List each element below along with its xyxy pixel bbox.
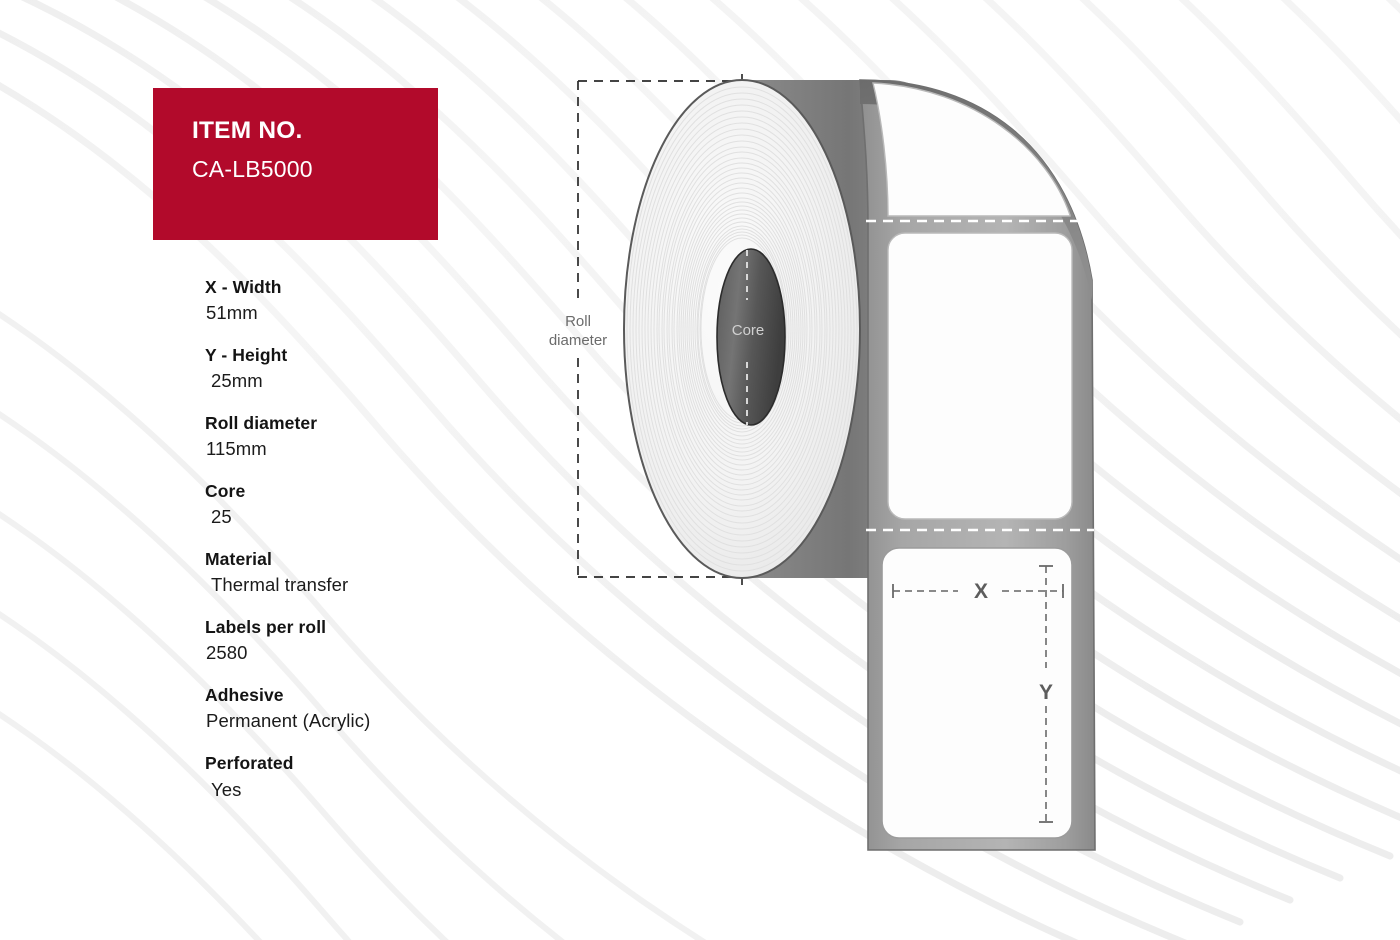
spec-value: 25 bbox=[205, 505, 505, 530]
spec-row-material: Material Thermal transfer bbox=[205, 548, 505, 598]
product-spec-sheet: ITEM NO. CA-LB5000 X - Width 51mm Y - He… bbox=[0, 0, 1400, 940]
spec-value: Yes bbox=[205, 778, 505, 803]
y-dimension-label: Y bbox=[1039, 681, 1053, 704]
item-number-value: CA-LB5000 bbox=[192, 156, 438, 183]
specification-list: X - Width 51mm Y - Height 25mm Roll diam… bbox=[205, 276, 505, 803]
x-dimension-label: X bbox=[974, 580, 988, 603]
spec-row-labels-per-roll: Labels per roll 2580 bbox=[205, 616, 505, 666]
spec-label: Perforated bbox=[205, 752, 505, 775]
roll-diameter-label-line1: Roll bbox=[565, 313, 591, 330]
spec-row-y-height: Y - Height 25mm bbox=[205, 344, 505, 394]
spec-label: Y - Height bbox=[205, 344, 505, 367]
spec-row-x-width: X - Width 51mm bbox=[205, 276, 505, 326]
core-label: Core bbox=[732, 322, 765, 339]
roll-diameter-label-line2: diameter bbox=[549, 332, 607, 349]
spec-label: Labels per roll bbox=[205, 616, 505, 639]
spec-label: Roll diameter bbox=[205, 412, 505, 435]
spec-value: 2580 bbox=[205, 641, 505, 666]
spec-value: 51mm bbox=[205, 301, 505, 326]
spec-value: 25mm bbox=[205, 369, 505, 394]
spec-label: Adhesive bbox=[205, 684, 505, 707]
spec-label: Material bbox=[205, 548, 505, 571]
spec-label: X - Width bbox=[205, 276, 505, 299]
spec-value: 115mm bbox=[205, 437, 505, 462]
label-middle bbox=[888, 233, 1072, 519]
spec-row-core: Core 25 bbox=[205, 480, 505, 530]
spec-row-roll-diameter: Roll diameter 115mm bbox=[205, 412, 505, 462]
spec-value: Permanent (Acrylic) bbox=[205, 709, 505, 734]
label-web-strip: X Y bbox=[860, 80, 1095, 850]
spec-value: Thermal transfer bbox=[205, 573, 505, 598]
spec-row-perforated: Perforated Yes bbox=[205, 752, 505, 802]
item-number-box: ITEM NO. CA-LB5000 bbox=[153, 88, 438, 240]
spec-row-adhesive: Adhesive Permanent (Acrylic) bbox=[205, 684, 505, 734]
spec-label: Core bbox=[205, 480, 505, 503]
item-number-title: ITEM NO. bbox=[192, 116, 438, 147]
